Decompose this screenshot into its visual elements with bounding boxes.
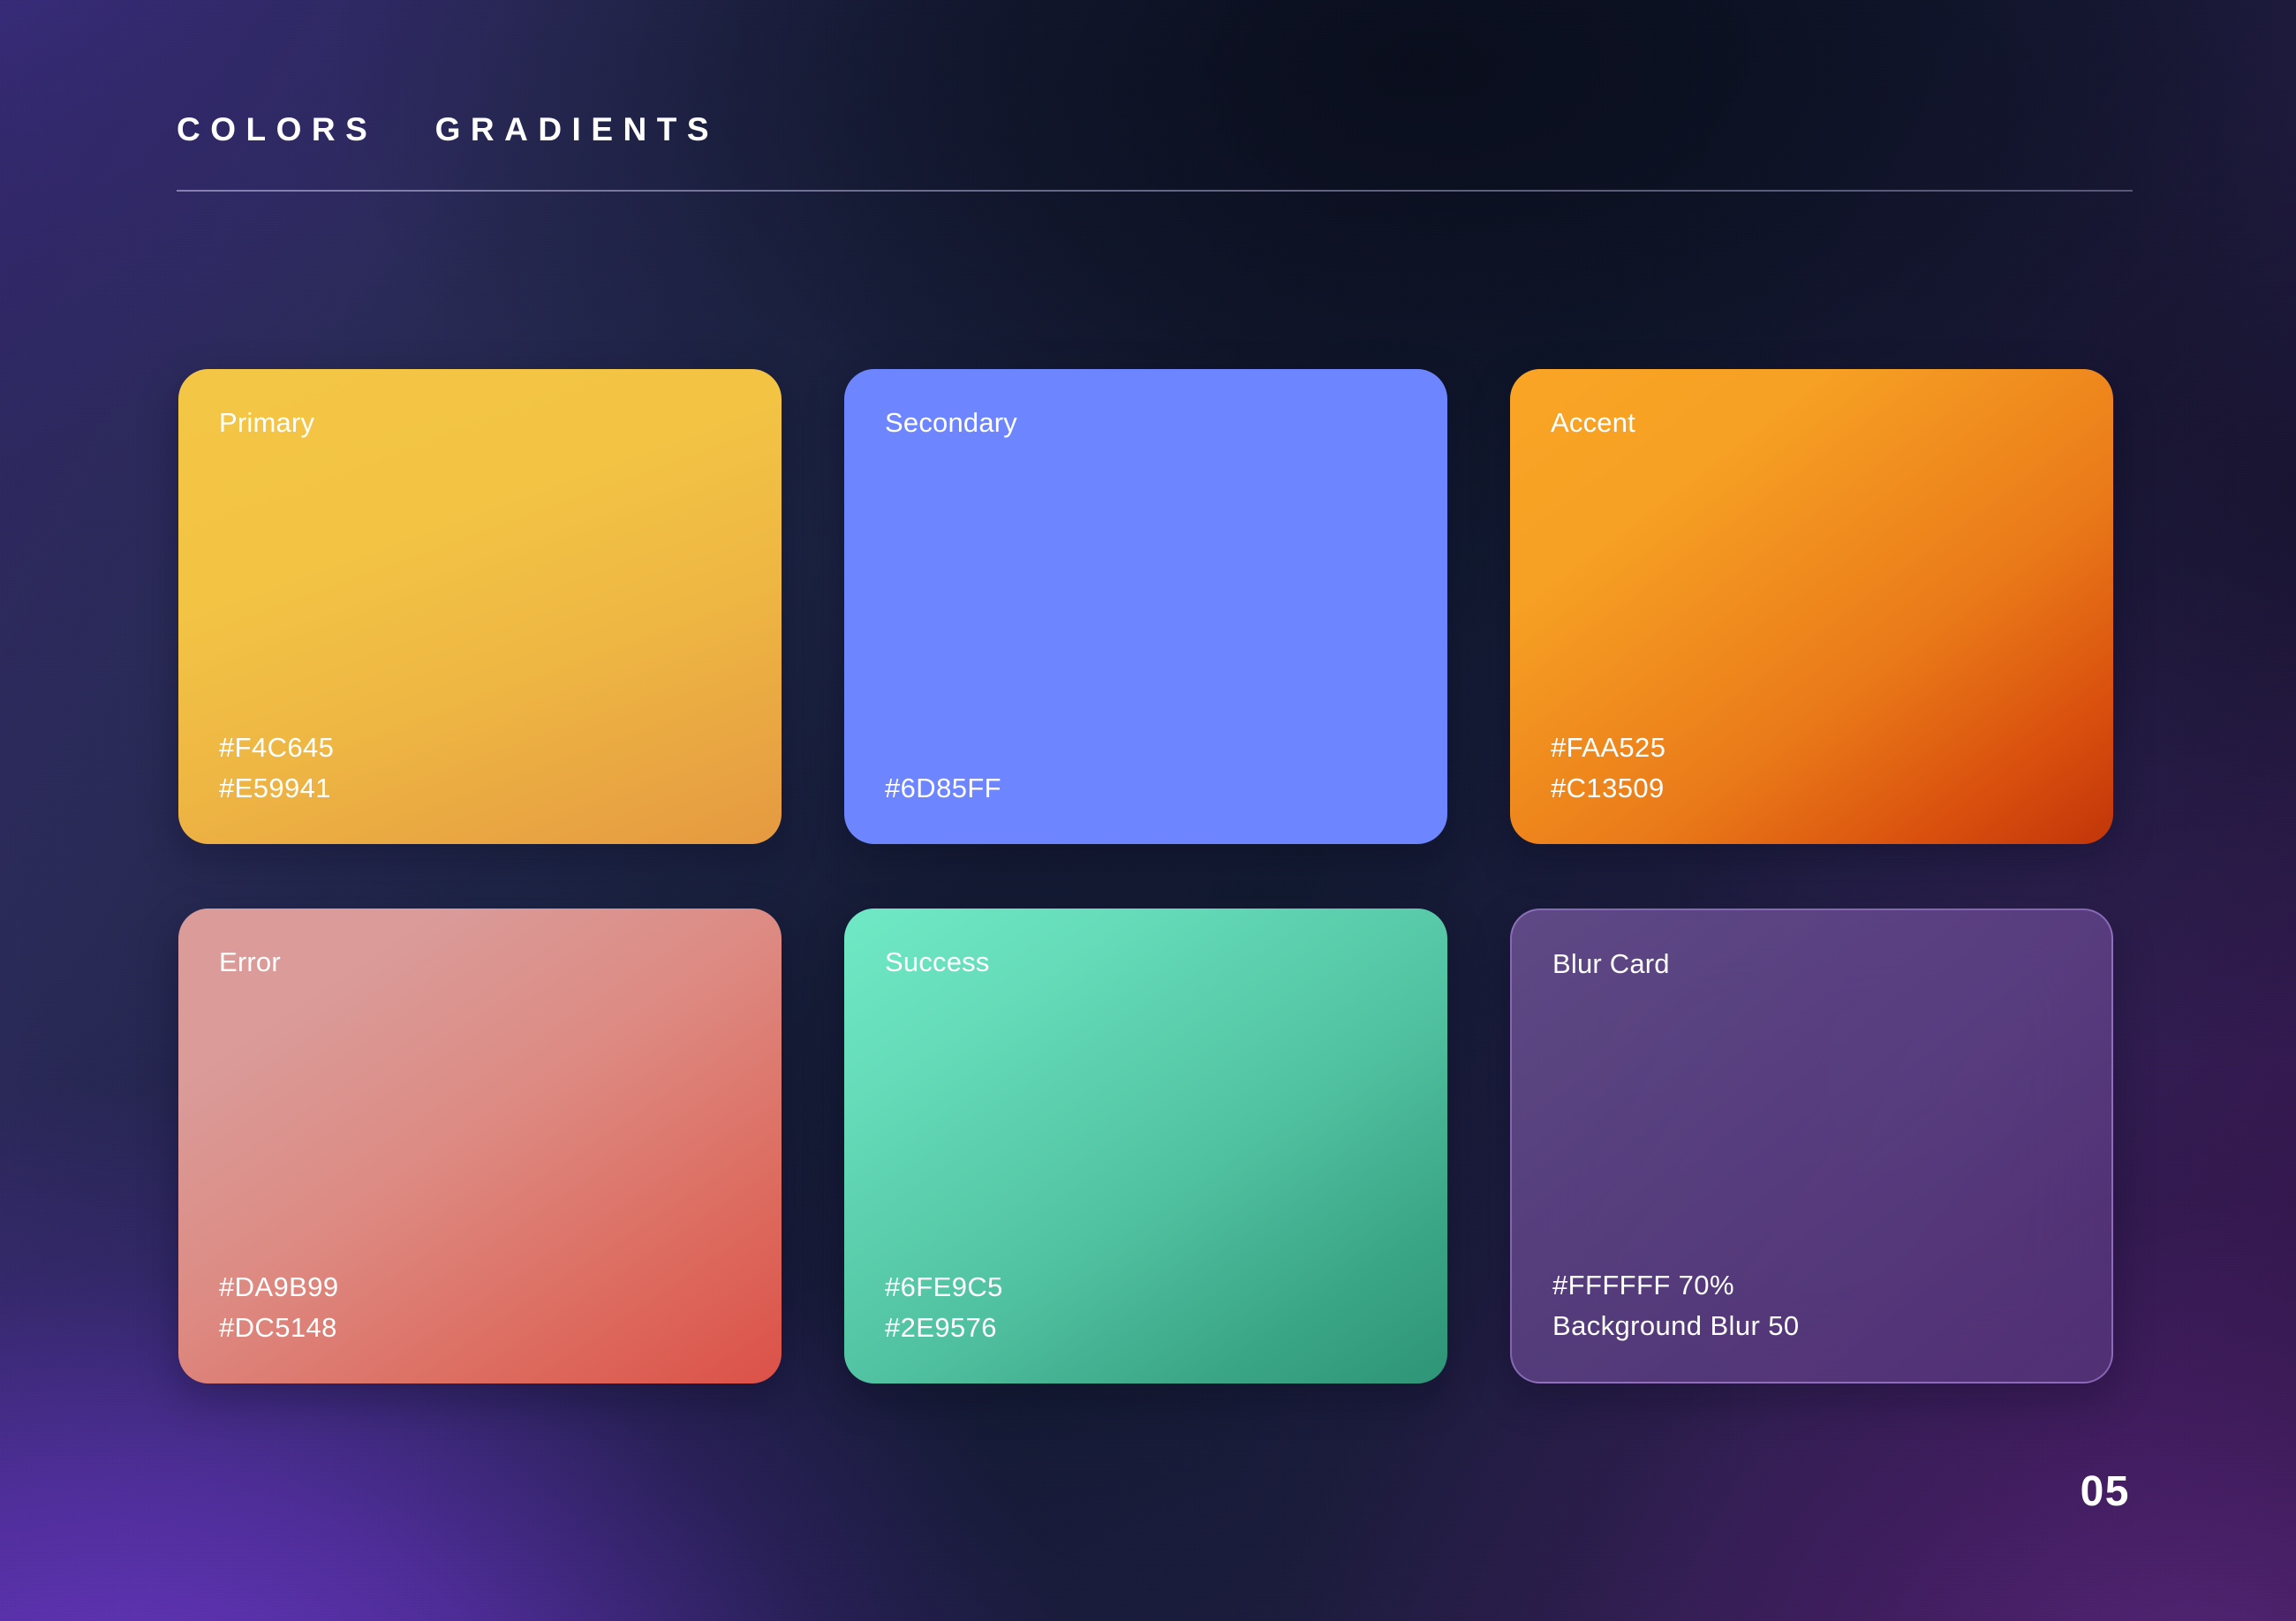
swatch-label: Success [885,947,1407,977]
swatch-card-blur[interactable]: Blur Card #FFFFFF 70% Background Blur 50 [1510,909,2113,1384]
swatch-value: #FAA525 [1551,731,2073,765]
swatch-label: Accent [1551,408,2073,438]
slide-header: COLORS GRADIENTS [177,113,2133,192]
slide-canvas: COLORS GRADIENTS Primary #F4C645 #E59941… [0,0,2296,1621]
swatch-value: #6D85FF [885,772,1407,805]
swatch-value: #2E9576 [885,1311,1407,1345]
swatch-label: Blur Card [1552,949,2071,979]
title-divider [177,190,2133,192]
swatch-label: Primary [219,408,741,438]
swatch-label: Error [219,947,741,977]
color-swatch-grid: Primary #F4C645 #E59941 Secondary #6D85F… [178,369,2113,1384]
swatch-value: #DC5148 [219,1311,741,1345]
swatch-card-secondary[interactable]: Secondary #6D85FF [844,369,1447,844]
swatch-values: #6FE9C5 #2E9576 [885,1270,1407,1345]
swatch-value: #6FE9C5 [885,1270,1407,1304]
swatch-value: #F4C645 [219,731,741,765]
page-title: COLORS GRADIENTS [177,113,2133,146]
swatch-values: #F4C645 #E59941 [219,731,741,805]
swatch-values: #DA9B99 #DC5148 [219,1270,741,1345]
swatch-card-success[interactable]: Success #6FE9C5 #2E9576 [844,909,1447,1384]
swatch-values: #FFFFFF 70% Background Blur 50 [1552,1269,2071,1343]
swatch-values: #6D85FF [885,772,1407,805]
page-number: 05 [2081,1471,2130,1513]
swatch-card-error[interactable]: Error #DA9B99 #DC5148 [178,909,782,1384]
swatch-values: #FAA525 #C13509 [1551,731,2073,805]
swatch-value: #FFFFFF 70% [1552,1269,2071,1302]
swatch-label: Secondary [885,408,1407,438]
swatch-value: #C13509 [1551,772,2073,805]
swatch-value: #DA9B99 [219,1270,741,1304]
swatch-value: #E59941 [219,772,741,805]
swatch-card-accent[interactable]: Accent #FAA525 #C13509 [1510,369,2113,844]
swatch-card-primary[interactable]: Primary #F4C645 #E59941 [178,369,782,844]
swatch-value: Background Blur 50 [1552,1309,2071,1343]
